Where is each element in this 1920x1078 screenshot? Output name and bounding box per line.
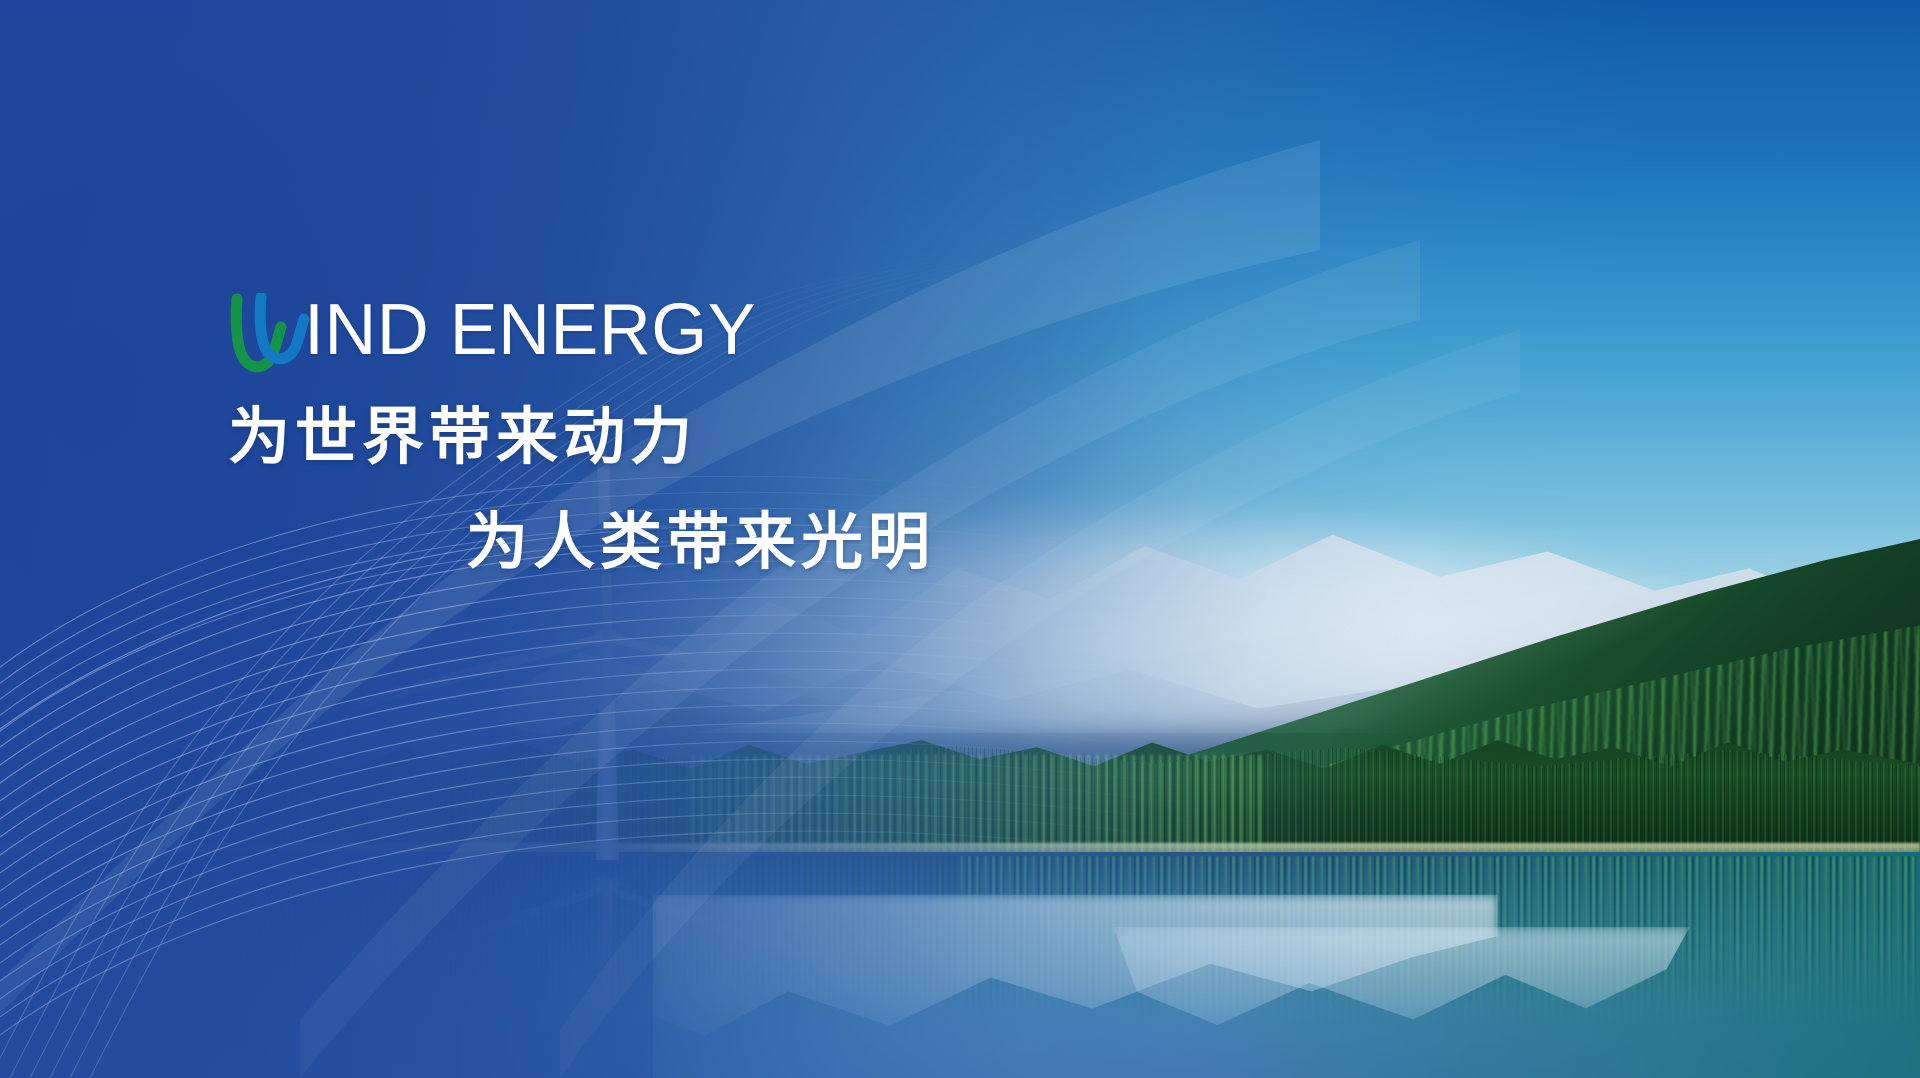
tagline-line-1: 为世界带来动力	[228, 398, 935, 477]
wind-energy-w-mark-icon	[228, 293, 312, 373]
logo-lockup: IND ENERGY	[228, 288, 935, 372]
banner-content: IND ENERGY 为世界带来动力 为人类带来光明	[228, 288, 935, 583]
logo-wordmark: IND ENERGY	[304, 294, 756, 366]
tagline-line-2: 为人类带来光明	[466, 503, 935, 582]
hero-banner: IND ENERGY 为世界带来动力 为人类带来光明	[0, 0, 1920, 1078]
